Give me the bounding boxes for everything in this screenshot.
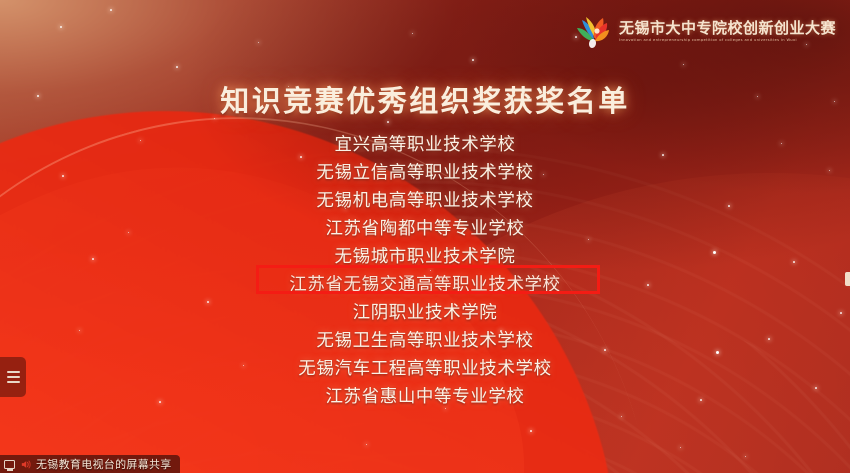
sparkle-dot	[530, 430, 532, 432]
sparkle-dot	[110, 9, 112, 11]
logo-title-en: Innovation and entrepreneurship competit…	[619, 39, 840, 43]
monitor-icon	[4, 460, 15, 469]
awardee-list: 宜兴高等职业技术学校无锡立信高等职业技术学校无锡机电高等职业技术学校江苏省陶都中…	[0, 131, 850, 411]
speaker-icon	[20, 459, 31, 470]
list-item: 无锡城市职业技术学院	[335, 243, 516, 271]
flame-bird-logo-icon	[573, 14, 613, 50]
list-menu-icon	[7, 371, 20, 384]
list-item: 无锡汽车工程高等职业技术学校	[298, 355, 551, 383]
sparkle-dot	[472, 59, 474, 61]
presentation-screen: 无锡市大中专院校创新创业大赛 Innovation and entreprene…	[0, 0, 850, 473]
sidebar-menu-toggle[interactable]	[0, 357, 26, 397]
right-edge-handle[interactable]	[845, 272, 850, 286]
list-item: 江阴职业技术学院	[353, 299, 498, 327]
sparkle-dot	[176, 66, 178, 68]
list-item: 无锡立信高等职业技术学校	[316, 159, 533, 187]
sparkle-dot	[387, 121, 389, 123]
list-item: 江苏省陶都中等专业学校	[325, 215, 524, 243]
list-item: 江苏省无锡交通高等职业技术学校	[289, 271, 561, 299]
competition-logo: 无锡市大中专院校创新创业大赛 Innovation and entreprene…	[573, 14, 836, 50]
page-title: 知识竞赛优秀组织奖获奖名单	[0, 78, 850, 120]
list-item: 宜兴高等职业技术学校	[335, 131, 516, 159]
screen-share-label: 无锡教育电视台的屏幕共享	[36, 456, 172, 472]
screen-share-status-bar: 无锡教育电视台的屏幕共享	[0, 455, 180, 473]
logo-text: 无锡市大中专院校创新创业大赛 Innovation and entreprene…	[619, 21, 836, 43]
list-item: 无锡卫生高等职业技术学校	[316, 327, 533, 355]
list-item: 江苏省惠山中等专业学校	[325, 383, 524, 411]
list-item: 无锡机电高等职业技术学校	[316, 187, 533, 215]
logo-title-cn: 无锡市大中专院校创新创业大赛	[619, 21, 836, 36]
